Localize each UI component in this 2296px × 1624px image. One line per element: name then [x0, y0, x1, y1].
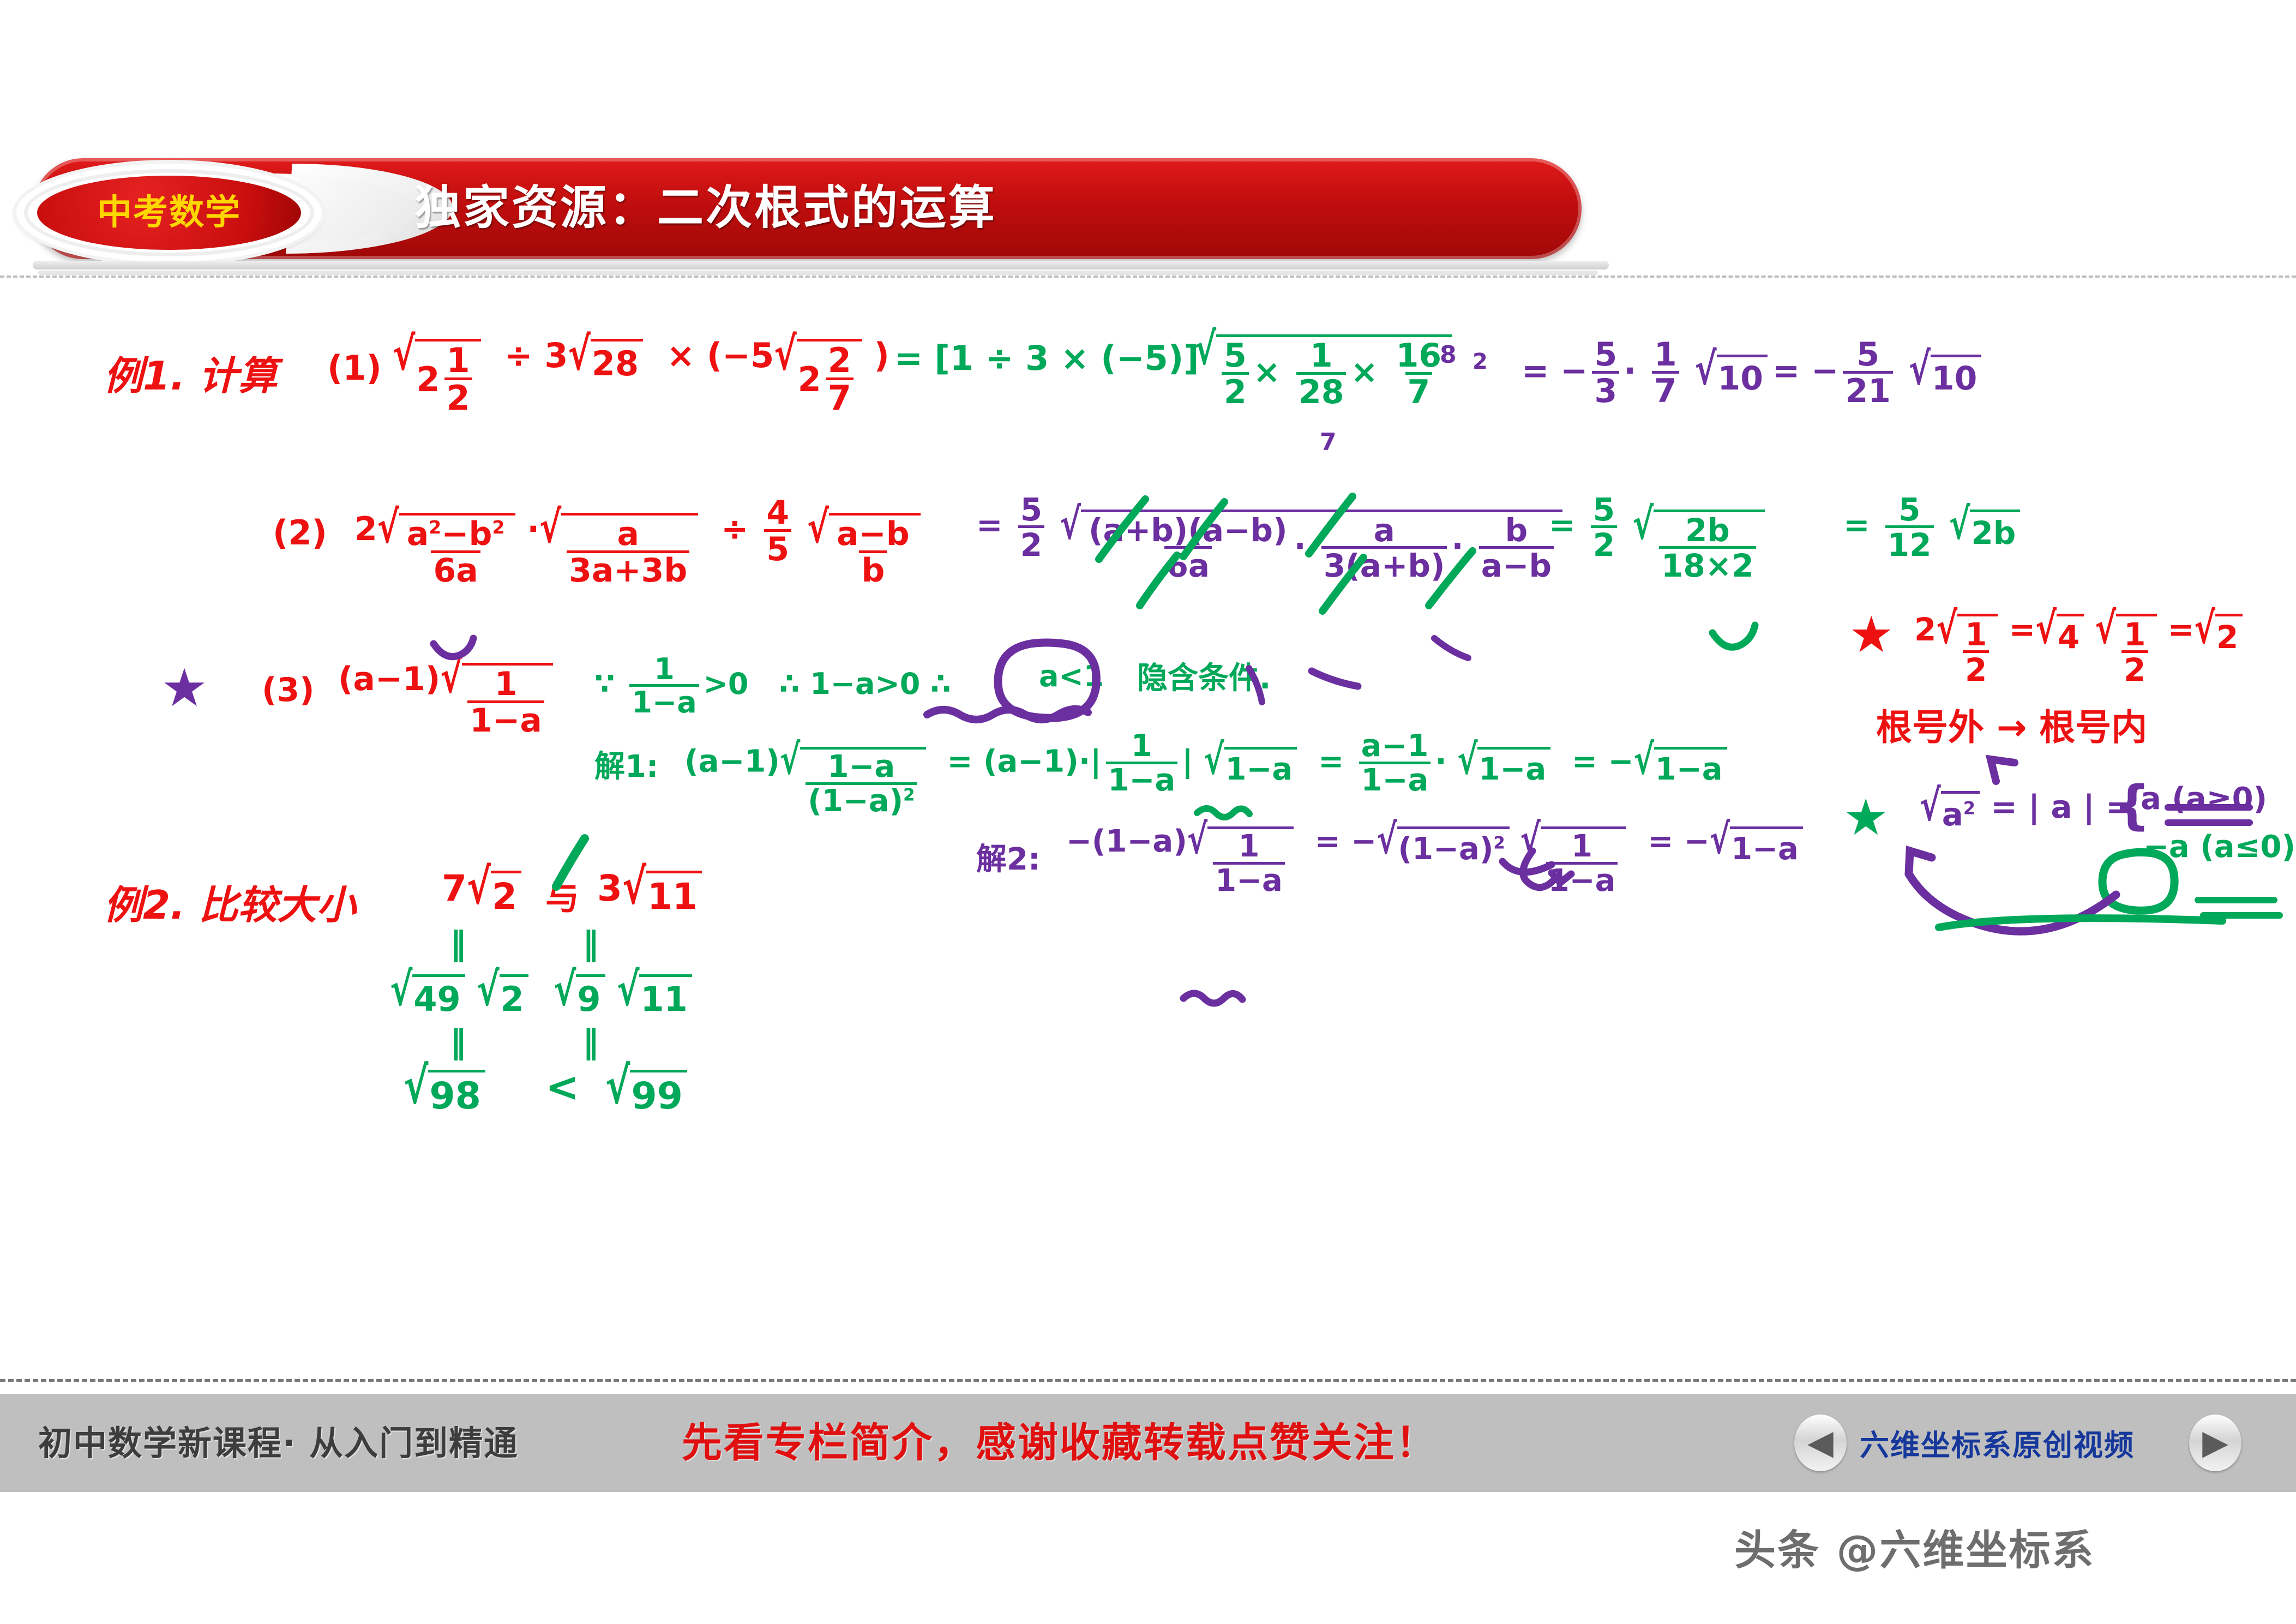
- example2-equal-left-2: ‖: [450, 1023, 466, 1061]
- footer-channel-group[interactable]: ◀ 六维坐标系原创视频 ▶: [1794, 1415, 2241, 1472]
- note1-star-marker: ★: [1849, 606, 1894, 664]
- example2-compare-word: 与: [545, 870, 579, 919]
- example2-left-term: 7√2: [442, 867, 521, 918]
- example1-label: 例1. 计算: [104, 344, 278, 401]
- q1-purple-step2: = −521 √10: [1772, 338, 1981, 408]
- example2-right-final: √99: [605, 1066, 687, 1118]
- q3-reason: ∵ 11−a>0 ∴ 1−a>0 ∴: [594, 655, 1033, 717]
- q1-tag: (1): [327, 348, 382, 388]
- q3-solution2-label: 解2:: [976, 835, 1040, 879]
- footer-cta-text: 先看专栏简介，感谢收藏转载点赞关注！: [682, 1410, 1438, 1469]
- badge-label: 中考数学: [37, 176, 301, 250]
- banner-underline-thin: [38, 271, 1598, 275]
- example2-equal-right-1: ‖: [582, 925, 599, 963]
- next-button[interactable]: ▶: [2189, 1415, 2241, 1471]
- footer-course-label: 初中数学新课程· 从入门到精通: [38, 1416, 519, 1465]
- example2-left-step: √49 √2: [390, 971, 528, 1019]
- prev-button[interactable]: ◀: [1794, 1415, 1847, 1471]
- example2-right-step: √9 √11: [554, 971, 692, 1019]
- q2-green-step2: = 512 √2b: [1843, 494, 2020, 561]
- q3-reason-note: 隐含条件.: [1137, 654, 1271, 698]
- q3-solution2-expr: −(1−a)√ 11−a = −√(1−a)2 √ 11−a = −√1−a: [1066, 824, 1803, 896]
- footer-dashed-divider: [0, 1379, 2296, 1382]
- footer-bar: 初中数学新课程· 从入门到精通 先看专栏简介，感谢收藏转载点赞关注！ ◀ 六维坐…: [0, 1394, 2296, 1492]
- q3-circled-conclusion: a<1: [1039, 659, 1104, 693]
- note3-case-positive: a (a≥0): [2141, 781, 2267, 817]
- q3-expression: (a−1)√ 11−a: [338, 660, 553, 737]
- q1-purple-step1: = −53· 17 √10: [1522, 338, 1768, 408]
- note3-identity: √a2 = | a | =: [1920, 788, 2132, 833]
- header-dashed-divider: [0, 275, 2296, 278]
- cancel-8-replacement: 2: [1472, 349, 1488, 374]
- note1-identity: 2√ 12 =√4 √ 12 =√2: [1914, 611, 2243, 686]
- arrow-left-icon: ◀: [1807, 1426, 1834, 1460]
- q1-green-radical-step: √ 52× 128× 167: [1194, 332, 1452, 409]
- q1-expression: √ 212 ÷ 3√28 × (−5√ 227 ): [393, 335, 889, 415]
- example2-left-final: √98: [404, 1066, 485, 1118]
- example2-equal-left-1: ‖: [450, 925, 466, 963]
- q3-star-marker: ★: [161, 657, 208, 718]
- watermark-text: 头条 @六维坐标系: [1734, 1517, 2095, 1577]
- banner-underline-thick: [33, 261, 1609, 269]
- page-title: 独家资源：二次根式的运算: [414, 176, 1532, 241]
- q2-expression: 2√ a2−b26a ·√ a3a+3b ÷ 45 √ a−bb: [354, 496, 921, 587]
- subject-badge: 中考数学: [16, 164, 322, 262]
- cancel-16-replacement: 8: [1440, 341, 1457, 369]
- q3-solution1-expr: (a−1)√ 1−a(1−a)2 = (a−1)·|11−a| √1−a = a…: [684, 731, 1727, 817]
- footer-channel-label: 六维坐标系原创视频: [1860, 1421, 2135, 1464]
- arrow-right-icon: ▶: [2202, 1426, 2228, 1460]
- example2-right-term: 3√11: [597, 867, 702, 918]
- example2-equal-right-2: ‖: [582, 1023, 599, 1061]
- cancel-28-replacement: 7: [1320, 428, 1337, 456]
- q3-tag: (3): [262, 671, 315, 709]
- note2-text: 根号外 → 根号内: [1876, 698, 2147, 751]
- note3-star-marker: ★: [1843, 788, 1888, 847]
- q2-green-step1: = 52 √ 2b18×2: [1549, 494, 1765, 582]
- q3-solution1-label: 解1:: [594, 742, 658, 786]
- example2-label: 例2. 比较大小: [104, 873, 356, 930]
- note3-case-negative: −a (a≤0): [2143, 829, 2295, 865]
- q1-green-bracket-step: = [1 ÷ 3 × (−5)]: [894, 338, 1199, 378]
- handwriting-board: 例1. 计算 (1) √ 212 ÷ 3√28 × (−5√ 227 ) = […: [0, 284, 2296, 1364]
- q2-purple-step: = 52 √ (a+b)(a−b)6a· a3(a+b)· ba−b: [976, 494, 1562, 582]
- example2-comparison-operator: <: [545, 1064, 579, 1111]
- q2-tag: (2): [273, 513, 327, 553]
